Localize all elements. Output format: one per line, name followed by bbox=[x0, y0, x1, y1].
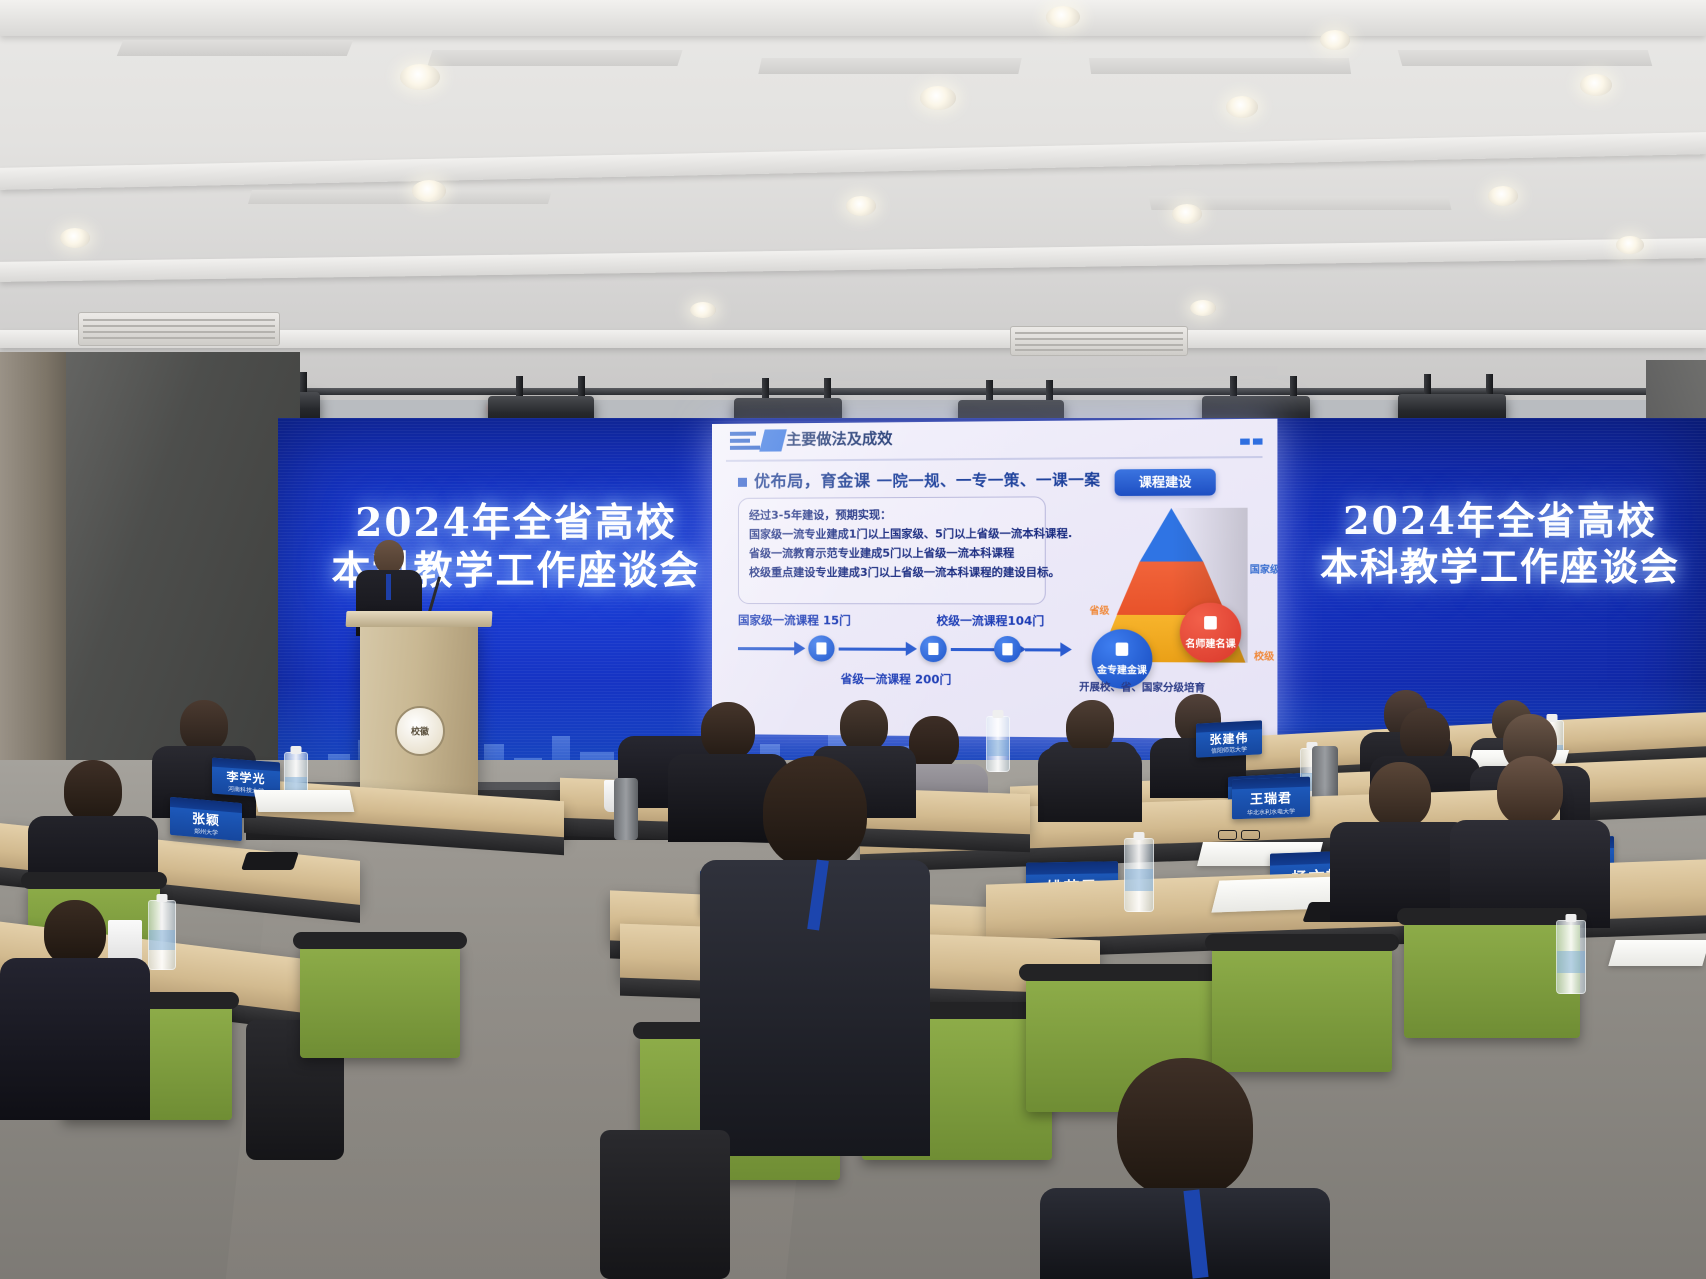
process-node-3 bbox=[994, 636, 1021, 663]
document-paper[interactable] bbox=[254, 790, 355, 812]
water-bottle[interactable] bbox=[1124, 838, 1154, 912]
slide-decor-dots-icon bbox=[1237, 431, 1263, 450]
slide-text-box: 经过3-5年建设，预期实现： 国家级一流专业建成1门以上国家级、5门以上省级一流… bbox=[738, 496, 1046, 604]
slide-caption-national: 国家级一流课程 15门 bbox=[738, 612, 851, 628]
pyramid-label-national: 国家级 bbox=[1250, 561, 1278, 575]
slide-bullet: 优布局，育金课一院一规、一专一策、一课一案 bbox=[738, 465, 1101, 492]
slide-pyramid-diagram: 课程建设 国家级 省级 校级 金专建金课 名师建名课 开展校、省、国家分级培育 bbox=[1071, 468, 1271, 727]
podium: 校徽 bbox=[360, 620, 478, 800]
bullet-square-icon bbox=[738, 478, 747, 487]
water-bottle[interactable] bbox=[148, 900, 176, 970]
attendee-front-right-1 bbox=[1330, 762, 1470, 922]
slide-logo-icon bbox=[730, 429, 788, 452]
water-bottle[interactable] bbox=[986, 716, 1010, 772]
slide-box-line-0: 经过3-5年建设，预期实现： bbox=[739, 497, 1045, 525]
book-icon bbox=[1116, 643, 1129, 656]
slide-header-title: 主要做法及成效 bbox=[786, 427, 892, 449]
slide-header: 主要做法及成效 bbox=[712, 419, 1277, 458]
name-placard-wangfujun: 王瑞君 华北水利水电大学 bbox=[1232, 777, 1310, 820]
process-node-2 bbox=[920, 636, 947, 662]
ac-vent-right bbox=[1010, 326, 1188, 356]
led-banner-right-line1: 2024年全省高校 bbox=[1290, 498, 1706, 544]
name-placard-zhangjianwei: 张建伟 信阳师范大学 bbox=[1196, 720, 1262, 757]
chair[interactable] bbox=[300, 940, 460, 1058]
slide-caption-provincial: 省级一流课程 200门 bbox=[841, 671, 952, 688]
pyramid-footer: 开展校、省、国家分级培育 bbox=[1079, 678, 1205, 694]
eyeglasses[interactable] bbox=[1218, 830, 1262, 838]
conference-room-photo: 2024年全省高校 本科教学工作座谈会 2024年全省高校 本科教学工作座谈会 … bbox=[0, 0, 1706, 1279]
placard-sub: 华北水利水电大学 bbox=[1232, 805, 1310, 817]
led-banner-right-line2: 本科教学工作座谈会 bbox=[1290, 544, 1706, 590]
pyramid-tier-national bbox=[1140, 508, 1203, 562]
slide-caption-school: 校级一流课程104门 bbox=[936, 612, 1044, 629]
attendee-foreground-center bbox=[700, 756, 930, 1156]
water-bottle[interactable] bbox=[1556, 920, 1586, 994]
ac-vent-left bbox=[78, 312, 280, 346]
pyramid-label-provincial: 省级 bbox=[1090, 603, 1110, 617]
pyramid-label-school: 校级 bbox=[1254, 648, 1274, 663]
led-banner-right: 2024年全省高校 本科教学工作座谈会 bbox=[1290, 498, 1706, 591]
document-paper[interactable] bbox=[1608, 940, 1706, 966]
backpack[interactable] bbox=[600, 1130, 730, 1279]
thermos-tumbler[interactable] bbox=[614, 778, 638, 840]
university-emblem-icon: 校徽 bbox=[395, 706, 445, 756]
pyramid-circle-red: 名师建名课 bbox=[1180, 603, 1241, 663]
process-node-1 bbox=[808, 635, 834, 661]
attendee-midcenter-2 bbox=[1038, 702, 1142, 822]
pyramid-circle-red-label: 名师建名课 bbox=[1180, 636, 1241, 651]
slide-bullet-sub: 一院一规、一专一策、一课一案 bbox=[877, 470, 1101, 490]
projected-slide: 主要做法及成效 优布局，育金课一院一规、一专一策、一课一案 经过3-5年建设，预… bbox=[712, 419, 1277, 740]
slide-bullet-main: 优布局，育金课 bbox=[754, 471, 871, 491]
podium-emblem-text: 校徽 bbox=[411, 725, 429, 738]
slide-process-arrows bbox=[738, 632, 1065, 666]
pyramid-shape: 国家级 省级 校级 金专建金课 名师建名课 bbox=[1096, 508, 1248, 663]
book-icon bbox=[1204, 616, 1217, 629]
slide-box-line-2: 省级一流教育示范专业建成5门以上省级一流本科课程 bbox=[739, 543, 1045, 563]
pyramid-badge: 课程建设 bbox=[1115, 469, 1216, 496]
mobile-phone[interactable] bbox=[241, 852, 299, 870]
name-placard-zhangying: 张颖 郑州大学 bbox=[170, 797, 242, 841]
slide-box-line-1: 国家级一流专业建成1门以上国家级、5门以上省级一流本科课程. bbox=[739, 524, 1045, 544]
slide-box-line-3: 校级重点建设专业建成3门以上省级一流本科课程的建设目标。 bbox=[739, 563, 1045, 582]
pyramid-circle-blue-label: 金专建金课 bbox=[1092, 662, 1153, 677]
attendee-foreground-bottom bbox=[1040, 1058, 1330, 1279]
attendee-front-right-2 bbox=[1450, 756, 1610, 928]
ceiling bbox=[0, 0, 1706, 400]
chair[interactable] bbox=[1212, 942, 1392, 1072]
chair[interactable] bbox=[1404, 916, 1580, 1038]
attendee-front-left bbox=[0, 900, 150, 1120]
